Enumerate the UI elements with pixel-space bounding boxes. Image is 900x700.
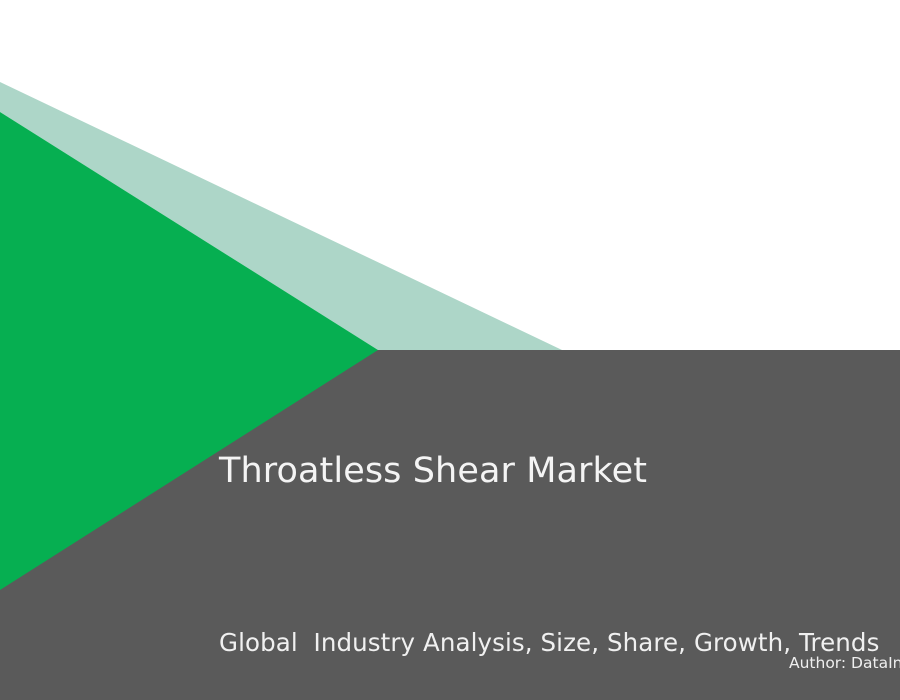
report-title: Throatless Shear Market bbox=[219, 448, 900, 494]
author-credit: Author: DataIntelo bbox=[789, 653, 900, 673]
report-cover-page: Throatless Shear Market Global Industry … bbox=[0, 0, 900, 700]
